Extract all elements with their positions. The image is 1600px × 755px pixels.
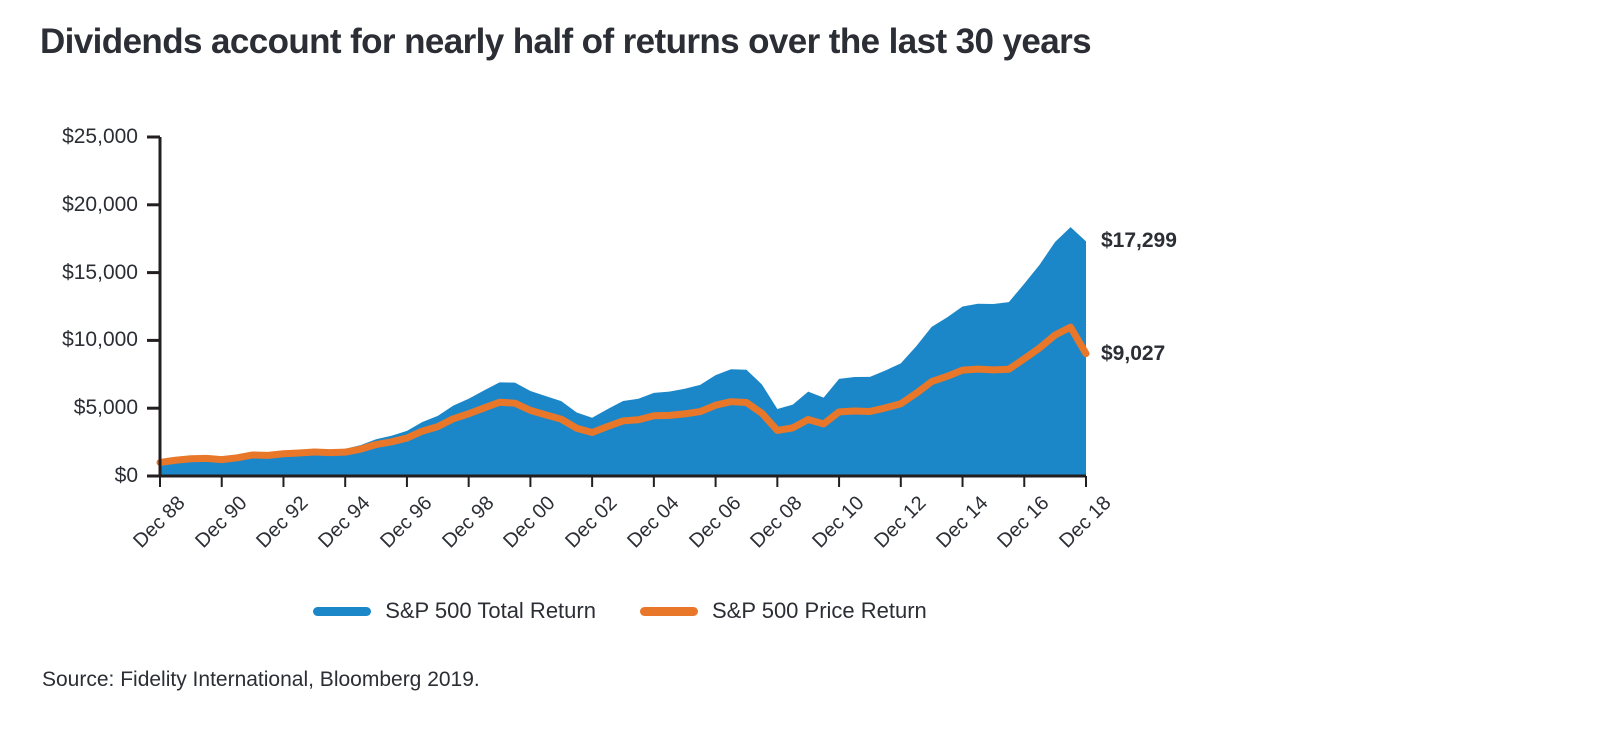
end-label-price-return: $9,027: [1101, 342, 1165, 366]
y-axis-tick-label: $20,000: [0, 193, 138, 217]
chart-plot-area: $0$5,000$10,000$15,000$20,000$25,000 Dec…: [0, 0, 1600, 755]
y-axis-tick-label: $15,000: [0, 261, 138, 285]
y-axis-tick-label: $25,000: [0, 125, 138, 149]
legend-label-price-return: S&P 500 Price Return: [712, 598, 927, 624]
legend-label-total-return: S&P 500 Total Return: [385, 598, 596, 624]
chart-legend: S&P 500 Total Return S&P 500 Price Retur…: [0, 598, 1240, 624]
y-axis-tick-label: $0: [0, 464, 138, 488]
legend-swatch-price-return: [640, 607, 698, 616]
end-label-total-return: $17,299: [1101, 229, 1177, 253]
legend-swatch-total-return: [313, 607, 371, 616]
total-return-area: [160, 227, 1086, 476]
legend-item-total-return[interactable]: S&P 500 Total Return: [313, 598, 596, 624]
legend-item-price-return[interactable]: S&P 500 Price Return: [640, 598, 927, 624]
y-axis-tick-label: $10,000: [0, 328, 138, 352]
y-axis-tick-label: $5,000: [0, 396, 138, 420]
source-note: Source: Fidelity International, Bloomber…: [42, 668, 480, 692]
